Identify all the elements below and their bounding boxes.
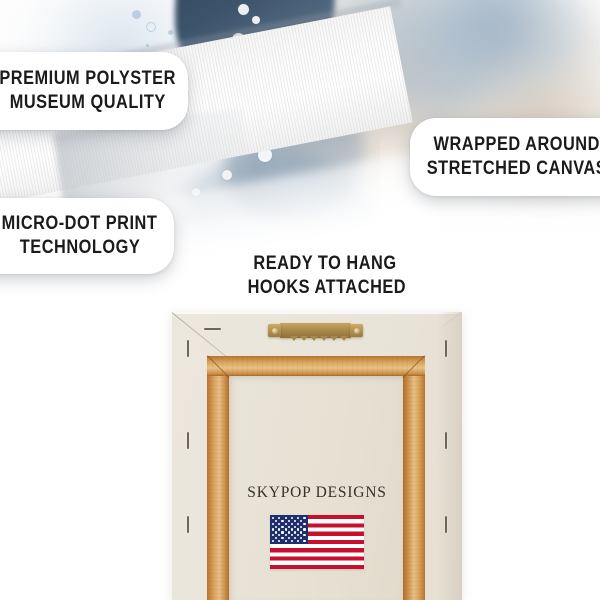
canvas-back-right-shading <box>436 312 462 600</box>
hanger-screw-plate-right <box>350 324 363 337</box>
canvas-back-top-highlight <box>172 312 462 314</box>
feature-label-line: MUSEUM QUALITY <box>10 91 166 115</box>
flag-star <box>278 534 280 536</box>
flag-star <box>303 523 305 525</box>
flag-star <box>288 520 290 522</box>
flag-star <box>285 534 287 536</box>
staple-mark <box>187 340 189 357</box>
feature-label-line: MICRO-DOT PRINT <box>2 212 158 236</box>
flag-star <box>294 537 296 539</box>
stretcher-bar-right <box>403 356 425 600</box>
feature-label-line: WRAPPED AROUND <box>434 133 600 157</box>
feature-label-ready-to-hang: READY TO HANG HOOKS ATTACHED <box>235 252 415 301</box>
hanger-screw-plate-left <box>268 324 281 337</box>
flag-star <box>278 517 280 519</box>
hanger-tooth <box>330 336 338 341</box>
feature-label-line: TECHNOLOGY <box>20 236 140 260</box>
hanger-tooth <box>320 336 328 341</box>
flag-star <box>275 531 277 533</box>
flag-star <box>303 517 305 519</box>
paint-speckle <box>132 10 141 19</box>
feature-label-line: READY TO HANG <box>248 252 403 276</box>
canvas-back-panel: SKYPOP DESIGNS <box>172 312 462 600</box>
stretcher-bar-left <box>207 356 229 600</box>
flag-star <box>291 534 293 536</box>
flag-star <box>285 517 287 519</box>
background-right <box>462 312 600 600</box>
staple-mark <box>204 328 221 330</box>
flag-star <box>291 528 293 530</box>
paint-speckle <box>146 22 156 32</box>
flag-star <box>303 528 305 530</box>
united-states-flag-icon <box>270 515 364 569</box>
flag-star <box>285 523 287 525</box>
paint-dot <box>252 16 260 24</box>
flag-star <box>291 517 293 519</box>
feature-label-premium-polyster: PREMIUM POLYSTER MUSEUM QUALITY <box>0 52 188 130</box>
flag-star <box>303 540 305 542</box>
flag-star <box>294 526 296 528</box>
flag-star <box>300 520 302 522</box>
hanger-tooth <box>300 336 308 341</box>
flag-star <box>288 526 290 528</box>
flag-star <box>278 523 280 525</box>
hanger-screw <box>272 328 278 334</box>
flag-star <box>294 531 296 533</box>
flag-star <box>281 531 283 533</box>
brand-name: SKYPOP DESIGNS <box>172 484 462 502</box>
flag-star <box>272 517 274 519</box>
flag-star <box>285 528 287 530</box>
stretcher-bar-top <box>207 356 425 376</box>
staple-mark <box>445 432 447 449</box>
wood-grain <box>207 356 229 600</box>
flag-union <box>270 515 308 544</box>
flag-star <box>281 526 283 528</box>
flag-star <box>272 540 274 542</box>
flag-star <box>275 520 277 522</box>
feature-label-wrapped-around: WRAPPED AROUND STRETCHED CANVAS <box>410 118 600 196</box>
flag-star <box>300 537 302 539</box>
flag-star <box>297 517 299 519</box>
flag-star <box>291 540 293 542</box>
flag-star <box>291 523 293 525</box>
flag-star <box>297 523 299 525</box>
staple-mark <box>445 340 447 357</box>
product-feature-image: PREMIUM POLYSTER MUSEUM QUALITY WRAPPED … <box>0 0 600 600</box>
flag-star <box>275 526 277 528</box>
flag-star <box>272 534 274 536</box>
hanger-tooth <box>340 336 348 341</box>
flag-star <box>285 540 287 542</box>
flag-stars <box>270 515 308 544</box>
flag-star <box>272 528 274 530</box>
hanger-tooth <box>290 336 298 341</box>
hanger-tooth <box>310 336 318 341</box>
feature-label-line: STRETCHED CANVAS <box>427 157 600 181</box>
wood-grain <box>403 356 425 600</box>
flag-star <box>272 523 274 525</box>
feature-label-micro-dot-print: MICRO-DOT PRINT TECHNOLOGY <box>0 198 174 274</box>
paint-speckle <box>168 30 173 35</box>
flag-star <box>303 534 305 536</box>
sawtooth-hanger-icon <box>268 323 363 338</box>
flag-star <box>278 540 280 542</box>
flag-star <box>281 537 283 539</box>
flag-star <box>281 520 283 522</box>
flag-star <box>275 537 277 539</box>
hanger-screw <box>354 328 360 334</box>
flag-star <box>294 520 296 522</box>
flag-star <box>300 531 302 533</box>
staple-mark <box>445 516 447 533</box>
flag-star <box>297 540 299 542</box>
wood-grain <box>207 356 425 376</box>
flag-star <box>300 526 302 528</box>
background-left <box>0 312 172 600</box>
flag-star <box>297 528 299 530</box>
paint-dot <box>238 4 249 15</box>
flag-star <box>278 528 280 530</box>
staple-mark <box>187 432 189 449</box>
feature-label-line: HOOKS ATTACHED <box>248 276 403 300</box>
flag-star <box>297 534 299 536</box>
feature-label-line: PREMIUM POLYSTER <box>0 67 176 91</box>
flag-star <box>288 537 290 539</box>
staple-mark <box>187 516 189 533</box>
flag-star <box>288 531 290 533</box>
